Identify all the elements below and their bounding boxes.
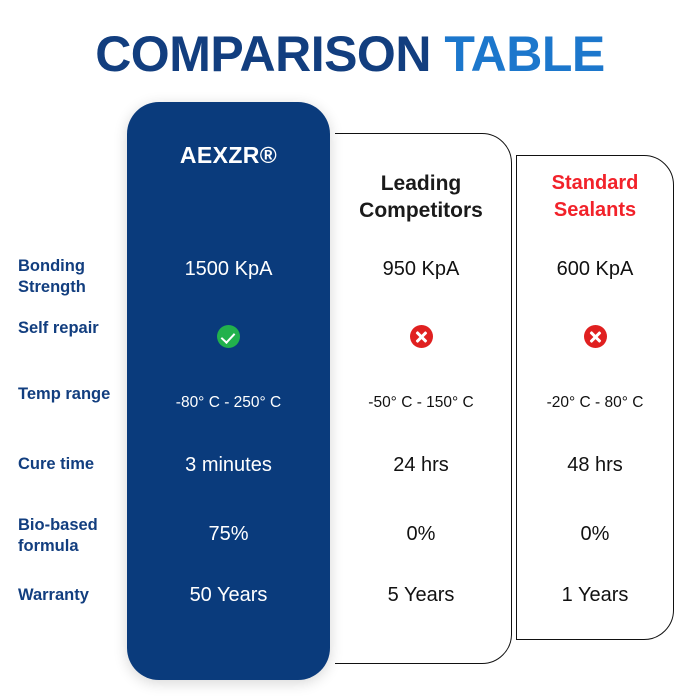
cell-warranty-standard: 1 Years (516, 582, 674, 608)
check-circle-icon (217, 325, 240, 348)
row-label-self-repair: Self repair (18, 318, 128, 339)
cell-bonding-strength-leading: 950 KpA (330, 256, 512, 282)
column-header-standard-sealants: Standard Sealants (516, 170, 674, 224)
cross-circle-icon (410, 325, 433, 348)
cell-temp-range-aexzr: -80° C - 250° C (127, 390, 330, 416)
cell-cure-time-standard: 48 hrs (516, 452, 674, 478)
cell-temp-range-standard: -20° C - 80° C (516, 390, 674, 416)
cell-warranty-aexzr: 50 Years (127, 582, 330, 608)
cell-self-repair-leading (330, 325, 512, 348)
title-part-primary: COMPARISON (95, 26, 431, 82)
comparison-table-page: COMPARISON TABLE AEXZR® Leading Competit… (0, 0, 700, 700)
title-part-secondary: TABLE (444, 26, 604, 82)
cell-self-repair-standard (516, 325, 674, 348)
page-title: COMPARISON TABLE (0, 24, 700, 84)
row-label-warranty: Warranty (18, 585, 128, 606)
column-header-aexzr: AEXZR® (127, 140, 330, 170)
row-label-bonding-strength: Bonding Strength (18, 256, 128, 298)
cell-bonding-strength-aexzr: 1500 KpA (127, 256, 330, 282)
cell-self-repair-aexzr (127, 325, 330, 348)
cell-bio-based-formula-leading: 0% (330, 521, 512, 547)
row-label-temp-range: Temp range (18, 384, 128, 405)
cross-circle-icon (584, 325, 607, 348)
cell-temp-range-leading: -50° C - 150° C (330, 390, 512, 416)
column-header-leading-competitors: Leading Competitors (330, 170, 512, 224)
cell-bonding-strength-standard: 600 KpA (516, 256, 674, 282)
cell-warranty-leading: 5 Years (330, 582, 512, 608)
row-label-cure-time: Cure time (18, 454, 128, 475)
cell-cure-time-leading: 24 hrs (330, 452, 512, 478)
cell-cure-time-aexzr: 3 minutes (127, 452, 330, 478)
cell-bio-based-formula-standard: 0% (516, 521, 674, 547)
row-label-bio-based-formula: Bio-based formula (18, 515, 128, 557)
cell-bio-based-formula-aexzr: 75% (127, 521, 330, 547)
